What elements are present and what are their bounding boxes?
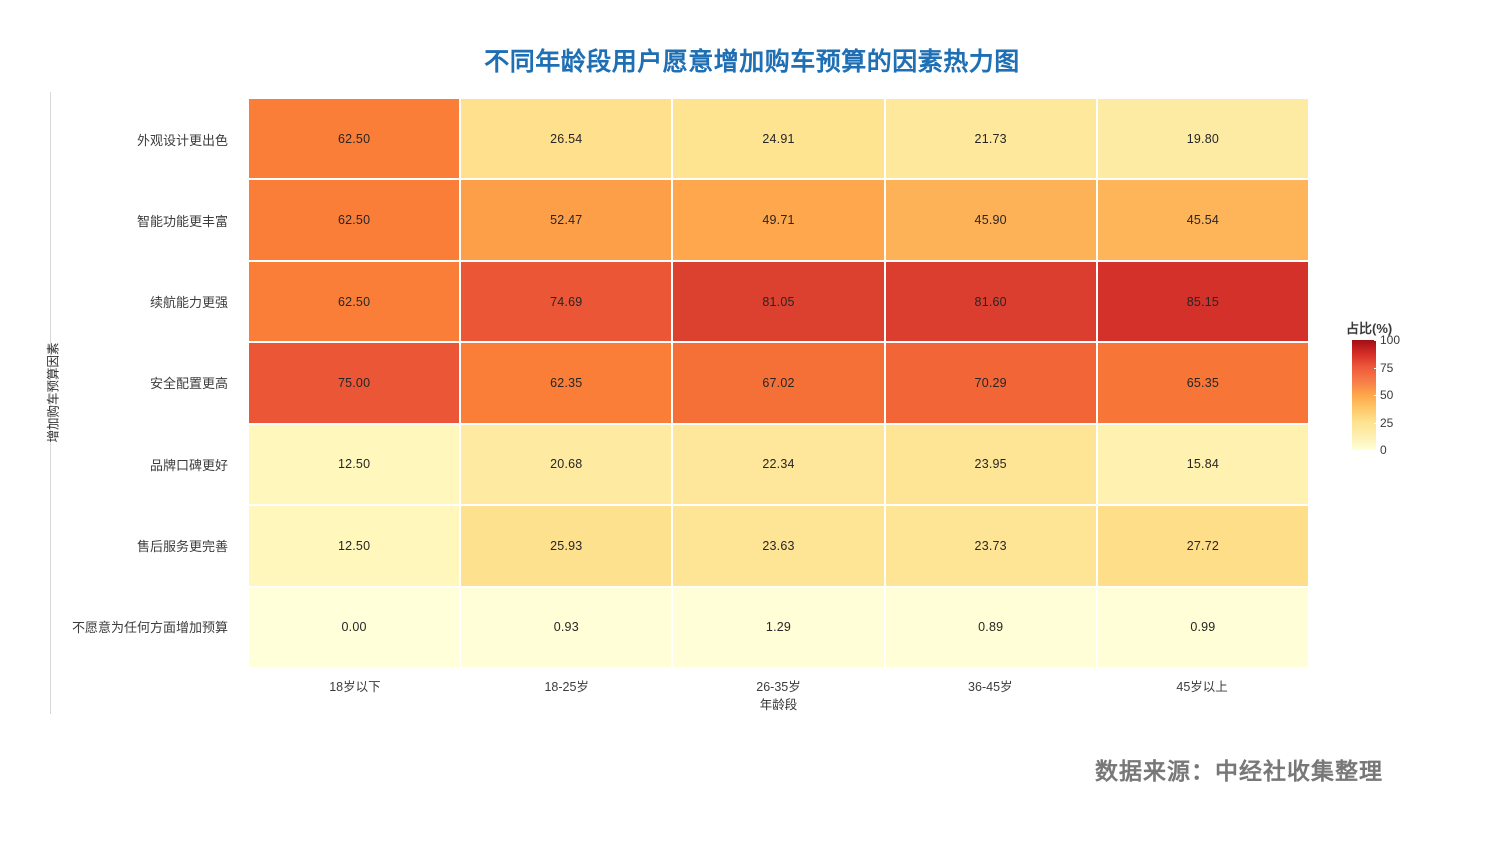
y-axis-tick-label: 品牌口碑更好 [60, 424, 242, 505]
heatmap-cell-value: 45.54 [1187, 213, 1219, 227]
y-axis-tick-label: 续航能力更强 [60, 261, 242, 342]
colorbar-gradient [1352, 340, 1376, 450]
heatmap-cell-value: 75.00 [338, 376, 370, 390]
colorbar-tick-label: 25 [1380, 416, 1393, 430]
heatmap-cell-value: 81.60 [975, 295, 1007, 309]
heatmap-cell-value: 21.73 [975, 132, 1007, 146]
colorbar-tick-labels: 1007550250 [1380, 332, 1440, 458]
x-axis-tick-label: 45岁以上 [1096, 676, 1308, 695]
heatmap-cell-value: 0.99 [1190, 620, 1215, 634]
heatmap-cell-value: 0.93 [554, 620, 579, 634]
heatmap-cell: 62.50 [249, 180, 459, 259]
heatmap-cell-value: 74.69 [550, 295, 582, 309]
colorbar-tick-label: 50 [1380, 388, 1393, 402]
heatmap-cell-value: 62.50 [338, 295, 370, 309]
colorbar-tick-mark [1374, 423, 1379, 424]
heatmap-cell-value: 20.68 [550, 457, 582, 471]
heatmap-cell-value: 12.50 [338, 457, 370, 471]
y-axis-tick-labels: 外观设计更出色智能功能更丰富续航能力更强安全配置更高品牌口碑更好售后服务更完善不… [60, 99, 242, 667]
colorbar-tick-mark [1374, 395, 1379, 396]
x-axis-tick-label: 18-25岁 [461, 676, 673, 695]
heatmap-cell-value: 22.34 [762, 457, 794, 471]
heatmap-cell-value: 27.72 [1187, 539, 1219, 553]
heatmap-cell-value: 62.50 [338, 213, 370, 227]
heatmap-cell-value: 24.91 [762, 132, 794, 146]
heatmap-cell: 0.99 [1098, 588, 1308, 667]
heatmap-cell: 0.89 [886, 588, 1096, 667]
heatmap-cell: 15.84 [1098, 425, 1308, 504]
y-axis-tick-label: 安全配置更高 [60, 342, 242, 423]
heatmap-cell: 0.93 [461, 588, 671, 667]
heatmap-cell: 0.00 [249, 588, 459, 667]
heatmap-cell: 81.60 [886, 262, 1096, 341]
heatmap-cell: 27.72 [1098, 506, 1308, 585]
heatmap-cell: 21.73 [886, 99, 1096, 178]
x-axis-tick-labels: 18岁以下18-25岁26-35岁36-45岁45岁以上 [249, 676, 1308, 695]
heatmap-cell: 23.95 [886, 425, 1096, 504]
heatmap-cell-value: 70.29 [975, 376, 1007, 390]
heatmap-cell-value: 26.54 [550, 132, 582, 146]
heatmap-cell: 67.02 [673, 343, 883, 422]
heatmap-cell: 45.54 [1098, 180, 1308, 259]
colorbar-tick-label: 0 [1380, 443, 1387, 457]
heatmap-cell-value: 15.84 [1187, 457, 1219, 471]
heatmap-cell-value: 1.29 [766, 620, 791, 634]
y-axis-tick-label: 外观设计更出色 [60, 99, 242, 180]
heatmap-cell: 52.47 [461, 180, 671, 259]
y-axis-tick-label: 不愿意为任何方面增加预算 [60, 586, 242, 667]
heatmap-cell: 19.80 [1098, 99, 1308, 178]
heatmap-cell-value: 85.15 [1187, 295, 1219, 309]
colorbar-tick-mark [1374, 450, 1379, 451]
heatmap-cell: 1.29 [673, 588, 883, 667]
heatmap-cell-value: 23.63 [762, 539, 794, 553]
heatmap-cell-value: 19.80 [1187, 132, 1219, 146]
heatmap-cell-value: 0.89 [978, 620, 1003, 634]
heatmap-cell: 62.50 [249, 99, 459, 178]
colorbar-tick-mark [1374, 368, 1379, 369]
y-axis-tick-label: 售后服务更完善 [60, 505, 242, 586]
x-axis-title: 年龄段 [249, 694, 1308, 713]
heatmap-cell: 65.35 [1098, 343, 1308, 422]
heatmap-cell-value: 25.93 [550, 539, 582, 553]
heatmap-cell-value: 49.71 [762, 213, 794, 227]
heatmap-cell: 12.50 [249, 425, 459, 504]
heatmap-cell-value: 23.95 [975, 457, 1007, 471]
heatmap-cell-value: 12.50 [338, 539, 370, 553]
heatmap-cell: 24.91 [673, 99, 883, 178]
heatmap-cell: 23.63 [673, 506, 883, 585]
colorbar-tick-mark [1374, 340, 1379, 341]
source-note: 数据来源：中经社收集整理 [0, 752, 1383, 786]
heatmap-cell: 45.90 [886, 180, 1096, 259]
heatmap-cell: 49.71 [673, 180, 883, 259]
heatmap-cell: 20.68 [461, 425, 671, 504]
heatmap-cell: 75.00 [249, 343, 459, 422]
heatmap-cell: 62.35 [461, 343, 671, 422]
heatmap-cell: 81.05 [673, 262, 883, 341]
heatmap-cell: 25.93 [461, 506, 671, 585]
heatmap-cell-value: 23.73 [975, 539, 1007, 553]
heatmap-grid: 62.5026.5424.9121.7319.8062.5052.4749.71… [249, 99, 1308, 667]
y-axis-tick-label: 智能功能更丰富 [60, 180, 242, 261]
x-axis-tick-label: 36-45岁 [884, 676, 1096, 695]
heatmap-cell-value: 65.35 [1187, 376, 1219, 390]
heatmap-cell: 74.69 [461, 262, 671, 341]
heatmap-plot-area: 62.5026.5424.9121.7319.8062.5052.4749.71… [249, 99, 1308, 667]
heatmap-cell: 70.29 [886, 343, 1096, 422]
heatmap-cell-value: 62.50 [338, 132, 370, 146]
x-axis-tick-label: 26-35岁 [673, 676, 885, 695]
heatmap-cell-value: 62.35 [550, 376, 582, 390]
heatmap-cell-value: 0.00 [342, 620, 367, 634]
colorbar-tick-label: 75 [1380, 361, 1393, 375]
heatmap-cell-value: 52.47 [550, 213, 582, 227]
y-axis-title: 增加购车预算因素 [43, 313, 62, 473]
heatmap-cell: 12.50 [249, 506, 459, 585]
heatmap-cell-value: 45.90 [975, 213, 1007, 227]
colorbar-tick-label: 100 [1380, 333, 1400, 347]
heatmap-cell: 85.15 [1098, 262, 1308, 341]
heatmap-cell: 62.50 [249, 262, 459, 341]
heatmap-cell: 22.34 [673, 425, 883, 504]
colorbar: 占比(%) 1007550250 [1340, 318, 1490, 468]
heatmap-cell: 23.73 [886, 506, 1096, 585]
page-title: 不同年龄段用户愿意增加购车预算的因素热力图 [0, 42, 1504, 78]
x-axis-tick-label: 18岁以下 [249, 676, 461, 695]
heatmap-cell-value: 81.05 [762, 295, 794, 309]
heatmap-cell: 26.54 [461, 99, 671, 178]
heatmap-cell-value: 67.02 [762, 376, 794, 390]
